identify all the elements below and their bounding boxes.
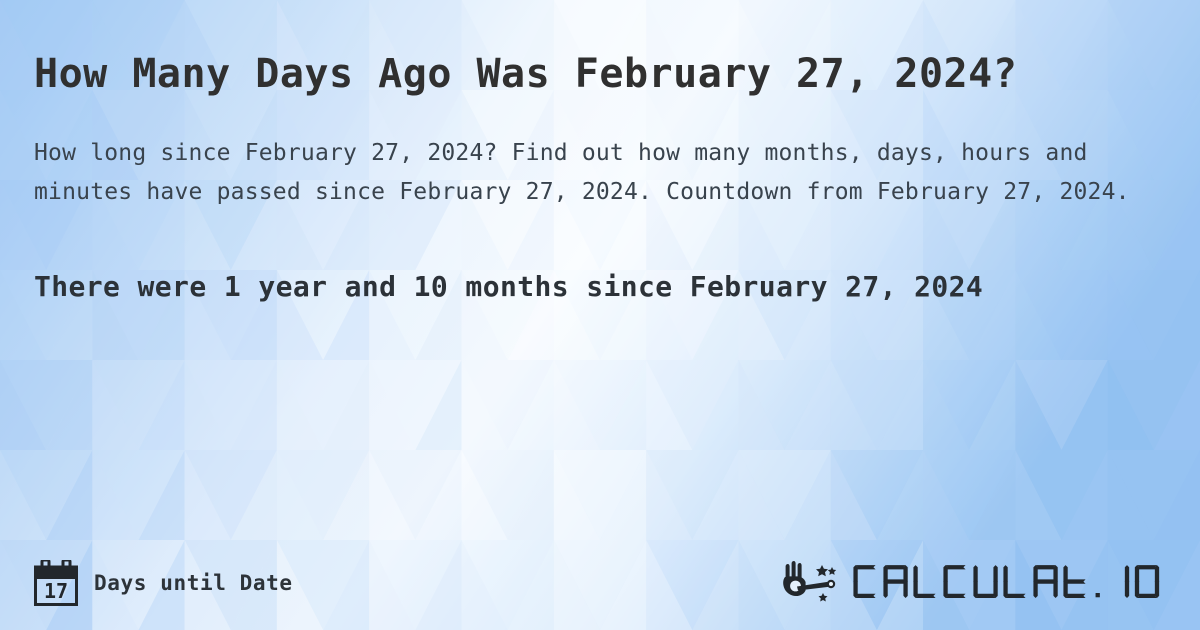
- footer-category[interactable]: 17 Days until Date: [34, 560, 293, 606]
- footer: 17 Days until Date: [0, 536, 1200, 630]
- page-description: How long since February 27, 2024? Find o…: [34, 134, 1166, 212]
- page-title: How Many Days Ago Was February 27, 2024?: [34, 48, 1094, 100]
- brand-logo[interactable]: CALCULAT.IO: [782, 560, 1166, 606]
- calendar-icon: 17: [34, 560, 78, 606]
- footer-category-label: Days until Date: [94, 571, 293, 595]
- result-statement: There were 1 year and 10 months since Fe…: [34, 264, 1166, 309]
- magic-wand-hand-icon: [782, 560, 848, 606]
- calendar-icon-day: 17: [44, 579, 68, 603]
- brand-wordmark: [852, 563, 1166, 603]
